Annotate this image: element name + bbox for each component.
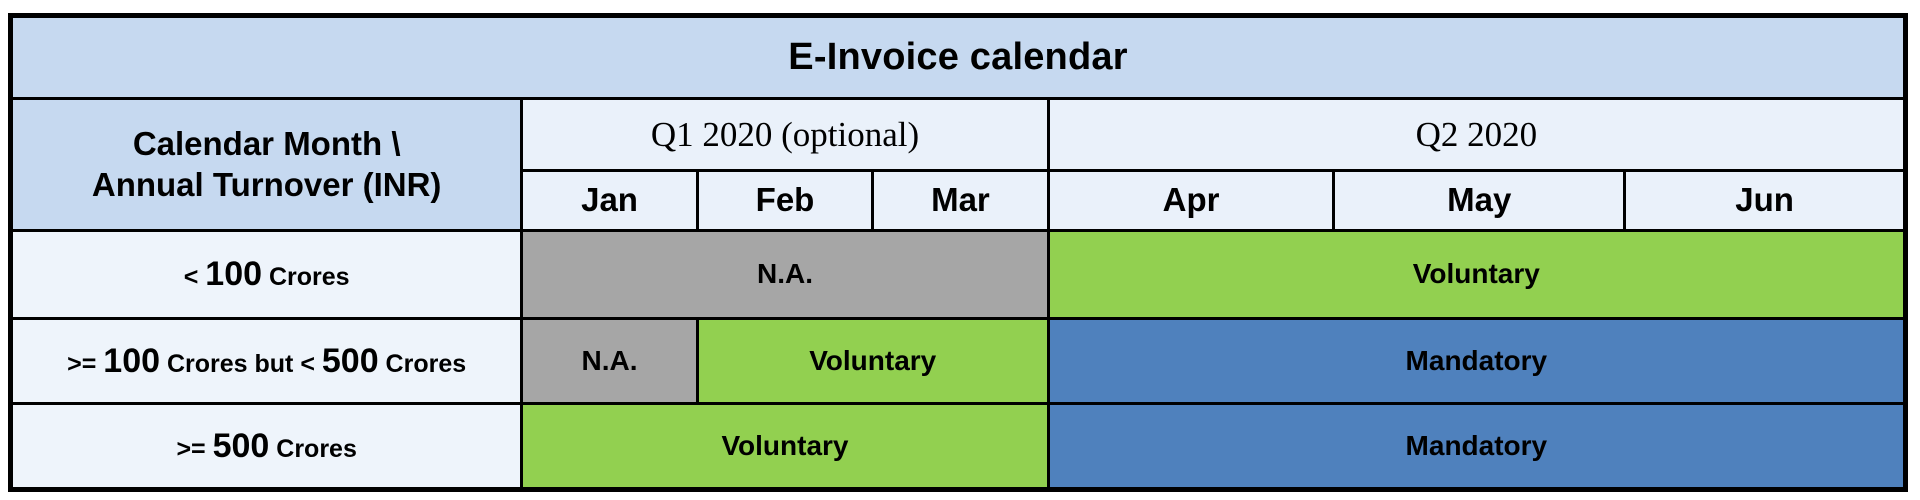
- turnover-prefix: <: [184, 263, 206, 291]
- turnover-amount-low: 100: [103, 342, 160, 380]
- turnover-amount: 500: [213, 427, 270, 465]
- status-cell-mandatory: Mandatory: [1048, 404, 1905, 490]
- turnover-label-100-to-500: >= 100 Crores but < 500 Crores: [11, 318, 522, 404]
- month-header-feb: Feb: [697, 170, 872, 230]
- table-title-row: E-Invoice calendar: [11, 16, 1906, 99]
- status-cell-na: N.A.: [522, 318, 697, 404]
- table-title: E-Invoice calendar: [11, 16, 1906, 99]
- row-header-stub: Calendar Month \ Annual Turnover (INR): [11, 99, 522, 231]
- turnover-amount: 100: [205, 255, 262, 293]
- turnover-amount-high: 500: [322, 342, 379, 380]
- month-header-may: May: [1334, 170, 1625, 230]
- month-header-apr: Apr: [1048, 170, 1334, 230]
- table-row: < 100 Crores N.A. Voluntary: [11, 231, 1906, 319]
- status-cell-voluntary: Voluntary: [697, 318, 1048, 404]
- table-row: >= 100 Crores but < 500 Crores N.A. Volu…: [11, 318, 1906, 404]
- status-cell-voluntary: Voluntary: [1048, 231, 1905, 319]
- turnover-label-under-100: < 100 Crores: [11, 231, 522, 319]
- turnover-prefix: >=: [176, 435, 212, 463]
- turnover-suffix: Crores: [262, 263, 350, 291]
- turnover-suffix: Crores: [269, 435, 357, 463]
- stub-line-calendar-month: Calendar Month \: [13, 124, 520, 164]
- stub-line-annual-turnover: Annual Turnover (INR): [13, 165, 520, 205]
- turnover-suffix: Crores: [379, 350, 467, 378]
- month-header-jan: Jan: [522, 170, 697, 230]
- turnover-prefix: >=: [67, 350, 103, 378]
- status-cell-na: N.A.: [522, 231, 1048, 319]
- quarter-header-q1: Q1 2020 (optional): [522, 99, 1048, 170]
- quarter-header-row: Calendar Month \ Annual Turnover (INR) Q…: [11, 99, 1906, 170]
- month-header-mar: Mar: [873, 170, 1048, 230]
- page-root: E-Invoice calendar Calendar Month \ Annu…: [0, 0, 1920, 500]
- table-row: >= 500 Crores Voluntary Mandatory: [11, 404, 1906, 490]
- turnover-mid: Crores but <: [160, 350, 322, 378]
- e-invoice-calendar-table: E-Invoice calendar Calendar Month \ Annu…: [8, 13, 1908, 492]
- status-cell-voluntary: Voluntary: [522, 404, 1048, 490]
- quarter-header-q2: Q2 2020: [1048, 99, 1905, 170]
- month-header-jun: Jun: [1625, 170, 1906, 230]
- turnover-label-over-500: >= 500 Crores: [11, 404, 522, 490]
- status-cell-mandatory: Mandatory: [1048, 318, 1905, 404]
